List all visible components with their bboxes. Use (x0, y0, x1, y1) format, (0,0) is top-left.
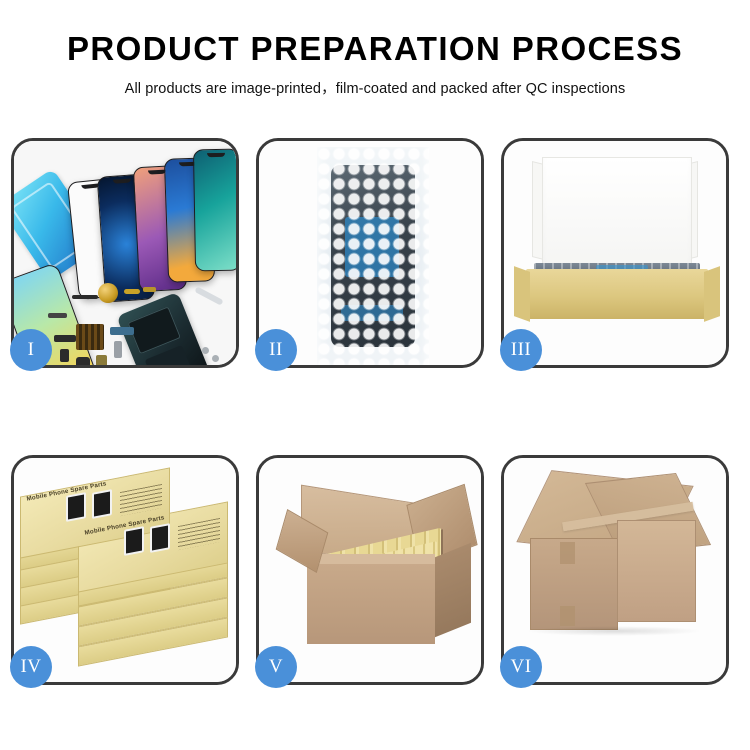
small-part-icon (60, 349, 69, 362)
phone-icon (193, 149, 236, 272)
step-image-5 (259, 458, 481, 682)
step-panel-4: Mobile Phone Spare Parts Mobile Phone Sp… (11, 455, 239, 685)
stacked-retail-boxes-illustration: Mobile Phone Spare Parts Mobile Phone Sp… (14, 458, 236, 682)
header: PRODUCT PREPARATION PROCESS All products… (0, 0, 750, 98)
box-base (526, 269, 708, 319)
chip-array-part-icon (76, 324, 104, 350)
process-steps-grid: I II (11, 138, 739, 685)
sim-tray-part-icon (96, 355, 107, 365)
box-screen-image (92, 489, 112, 519)
bubble-wrapped-part-illustration (259, 141, 481, 365)
page-title: PRODUCT PREPARATION PROCESS (0, 30, 750, 68)
step-panel-1: I (11, 138, 239, 368)
step-image-6 (504, 458, 726, 682)
step-image-1 (14, 141, 236, 365)
box-screen-image (124, 526, 144, 556)
carton-right-face (617, 520, 696, 622)
sealed-carton-illustration (504, 458, 726, 682)
step-panel-2: II (256, 138, 484, 368)
step-panel-5: V (256, 455, 484, 685)
page-subtitle: All products are image-printed，film-coat… (0, 77, 750, 98)
step-badge-5: V (255, 646, 297, 688)
carton-seam (560, 606, 575, 626)
antenna-part-icon (48, 313, 67, 318)
flex-cable-part-icon (110, 327, 134, 335)
phones-and-parts-illustration (14, 141, 236, 365)
box-lid (542, 157, 692, 279)
step-badge-1: I (10, 329, 52, 371)
open-mailer-box-illustration (504, 141, 726, 365)
step-panel-3: III (501, 138, 729, 368)
box-screen-image (66, 492, 86, 522)
screw-part-icon (202, 347, 209, 354)
step-image-3 (504, 141, 726, 365)
step-image-4: Mobile Phone Spare Parts Mobile Phone Sp… (14, 458, 236, 682)
flex-cable-part-icon (124, 289, 140, 294)
earpiece-part-icon (72, 295, 98, 299)
carton-shadow (526, 626, 702, 636)
open-carton-illustration (259, 458, 481, 682)
step-badge-2: II (255, 329, 297, 371)
speaker-part-icon (76, 357, 90, 365)
step-badge-4: IV (10, 646, 52, 688)
step-image-2 (259, 141, 481, 365)
step-badge-6: VI (500, 646, 542, 688)
connector-part-icon (54, 335, 76, 342)
step-panel-6: VI (501, 455, 729, 685)
bubble-wrap-edge-highlight (317, 147, 429, 365)
carton-front-panel (307, 564, 435, 644)
step-badge-3: III (500, 329, 542, 371)
carton-seam (560, 542, 575, 564)
product-preparation-infographic: PRODUCT PREPARATION PROCESS All products… (0, 0, 750, 750)
screw-part-icon (212, 355, 219, 362)
box-screen-image (150, 523, 170, 553)
vibration-motor-icon (98, 283, 118, 303)
sim-tray-part-icon (114, 341, 122, 358)
carton-side-panel (435, 543, 471, 638)
flex-cable-part-icon (143, 287, 156, 292)
